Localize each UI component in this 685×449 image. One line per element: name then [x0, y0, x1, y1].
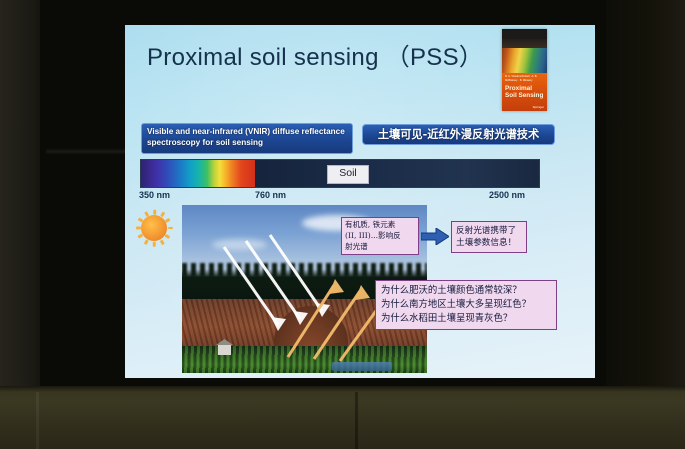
desk-seam	[355, 392, 358, 449]
banner-english: Visible and near-infrared (VNIR) diffuse…	[141, 123, 353, 154]
callout-cause-line2: (II, III)...影响反	[345, 231, 415, 242]
wavelength-label-760: 760 nm	[255, 190, 286, 200]
sun-ray-icon	[144, 239, 149, 245]
sun-ray-icon	[160, 239, 165, 245]
sun-ray-icon	[144, 211, 149, 217]
wavelength-label-2500: 2500 nm	[489, 190, 525, 200]
book-title: Proximal Soil Sensing	[505, 85, 545, 99]
spectrum-nir-region	[255, 160, 539, 187]
book-cover-image	[502, 39, 547, 73]
lecture-room: Proximal soil sensing （PSS） R. A. Viscar…	[0, 0, 685, 449]
sun-ray-icon	[168, 227, 173, 230]
book-authors: R. A. Viscarra Rossel · A. B. McBratney …	[505, 75, 545, 83]
sun-ray-icon	[137, 234, 143, 239]
callout-result: 反射光谱携带了 土壤参数信息！	[451, 221, 527, 253]
callout-cause: 有机质, 铁元素 (II, III)...影响反 射光谱	[341, 217, 419, 255]
callout-cause-line1: 有机质, 铁元素	[345, 220, 415, 231]
question-3: 为什么水稻田土壤呈现青灰色？	[381, 312, 551, 326]
callout-result-line2: 土壤参数信息！	[456, 237, 522, 249]
sun-ray-icon	[160, 211, 165, 217]
callout-result-line1: 反射光谱携带了	[456, 225, 522, 237]
book-publisher: Springer	[533, 105, 544, 109]
book-cover-thumbnail: R. A. Viscarra Rossel · A. B. McBratney …	[502, 29, 547, 111]
sun-ray-icon	[153, 210, 156, 215]
sun-ray-icon	[165, 234, 171, 239]
desk-surface	[0, 386, 685, 449]
spectrum-visible-region	[141, 160, 255, 187]
presentation-slide: Proximal soil sensing （PSS） R. A. Viscar…	[125, 25, 595, 378]
page-title: Proximal soil sensing （PSS）	[147, 37, 483, 72]
banner-chinese: 土壤可见-近红外漫反射光谱技术	[362, 124, 555, 145]
callout-questions: 为什么肥沃的土壤颜色通常较深？ 为什么南方地区土壤大多呈现红色？ 为什么水稻田土…	[375, 280, 557, 330]
sun-ray-icon	[153, 242, 156, 247]
wavelength-label-350: 350 nm	[139, 190, 170, 200]
right-arrow-icon	[421, 228, 449, 245]
sun-icon	[141, 215, 167, 241]
sun-ray-icon	[137, 218, 143, 223]
room-wall-right	[600, 0, 685, 392]
callout-cause-line3: 射光谱	[345, 242, 415, 253]
desk-edge-highlight	[36, 392, 39, 449]
sun-ray-icon	[136, 227, 141, 230]
question-1: 为什么肥沃的土壤颜色通常较深？	[381, 284, 551, 298]
sun-ray-icon	[165, 218, 171, 223]
soil-photo-label: Soil	[327, 165, 369, 184]
question-2: 为什么南方地区土壤大多呈现红色？	[381, 298, 551, 312]
